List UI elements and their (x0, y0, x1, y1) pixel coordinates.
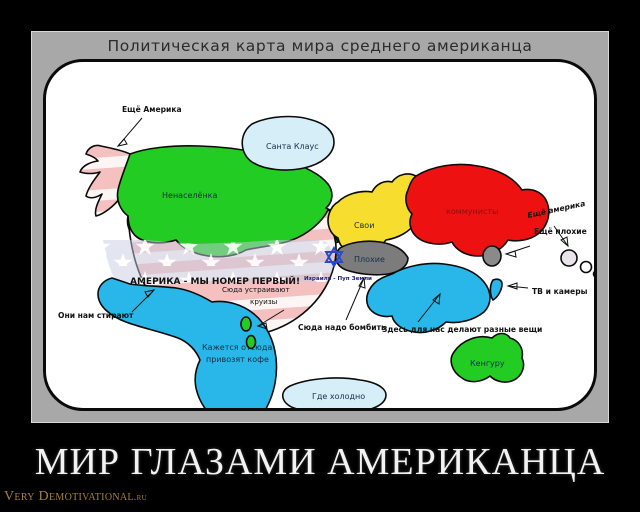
region-australia: Кенгуру (451, 334, 523, 383)
region-greenland: Санта Клаус (242, 117, 334, 170)
region-tv-cameras-island (490, 279, 502, 300)
region-label-canada: Ненаселёнка (162, 191, 217, 200)
svg-text:Они нам стирают: Они нам стирают (58, 311, 134, 320)
callout-more-america-left: Ещё Америка (118, 105, 182, 146)
region-antarctica: Где холодно (283, 378, 386, 411)
region-pacific-islands (561, 250, 597, 280)
region-label-europe: Свои (354, 221, 374, 230)
map-svg-wrapper: Ненаселёнка АМЕРИКА - МЫ НОМЕР ПЕРВЫЙ! С… (46, 62, 594, 408)
svg-text:Сюда надо бомбить: Сюда надо бомбить (298, 323, 386, 332)
region-label-bad-guys: Плохие (354, 255, 385, 264)
svg-text:ТВ и камеры: ТВ и камеры (532, 287, 588, 296)
svg-text:круизы: круизы (250, 297, 278, 306)
poster-caption: МИР ГЛАЗАМИ АМЕРИКАНЦА (0, 440, 640, 484)
region-label-coffee-1: Кажется отсюда (202, 343, 272, 352)
region-middle-east: Плохие (336, 241, 408, 275)
region-label-communists: коммунисты (446, 207, 498, 216)
svg-text:Здесь для нас делают разные ве: Здесь для нас делают разные вещи (382, 325, 542, 334)
svg-text:Ещё Америка: Ещё Америка (122, 105, 182, 114)
site-watermark: Very Demotivational.ru (4, 489, 147, 505)
map-frame: Политическая карта мира среднего америка… (31, 31, 609, 423)
watermark-tld: .ru (134, 492, 147, 503)
svg-text:Сюда устраивают: Сюда устраивают (222, 285, 290, 294)
map-title: Политическая карта мира среднего америка… (32, 37, 608, 55)
poster-root: Политическая карта мира среднего америка… (0, 0, 640, 512)
watermark-text: Very Demotivational (4, 489, 134, 504)
region-label-antarctica: Где холодно (312, 392, 365, 401)
callout-tv-and-cameras: ТВ и камеры (508, 283, 588, 296)
region-label-greenland: Санта Клаус (266, 142, 319, 151)
region-label-australia: Кенгуру (470, 359, 505, 368)
region-more-bad-guys-island (483, 246, 501, 266)
region-label-coffee-2: привозят кофе (206, 355, 269, 364)
map-canvas: Ненаселёнка АМЕРИКА - МЫ НОМЕР ПЕРВЫЙ! С… (43, 59, 597, 411)
